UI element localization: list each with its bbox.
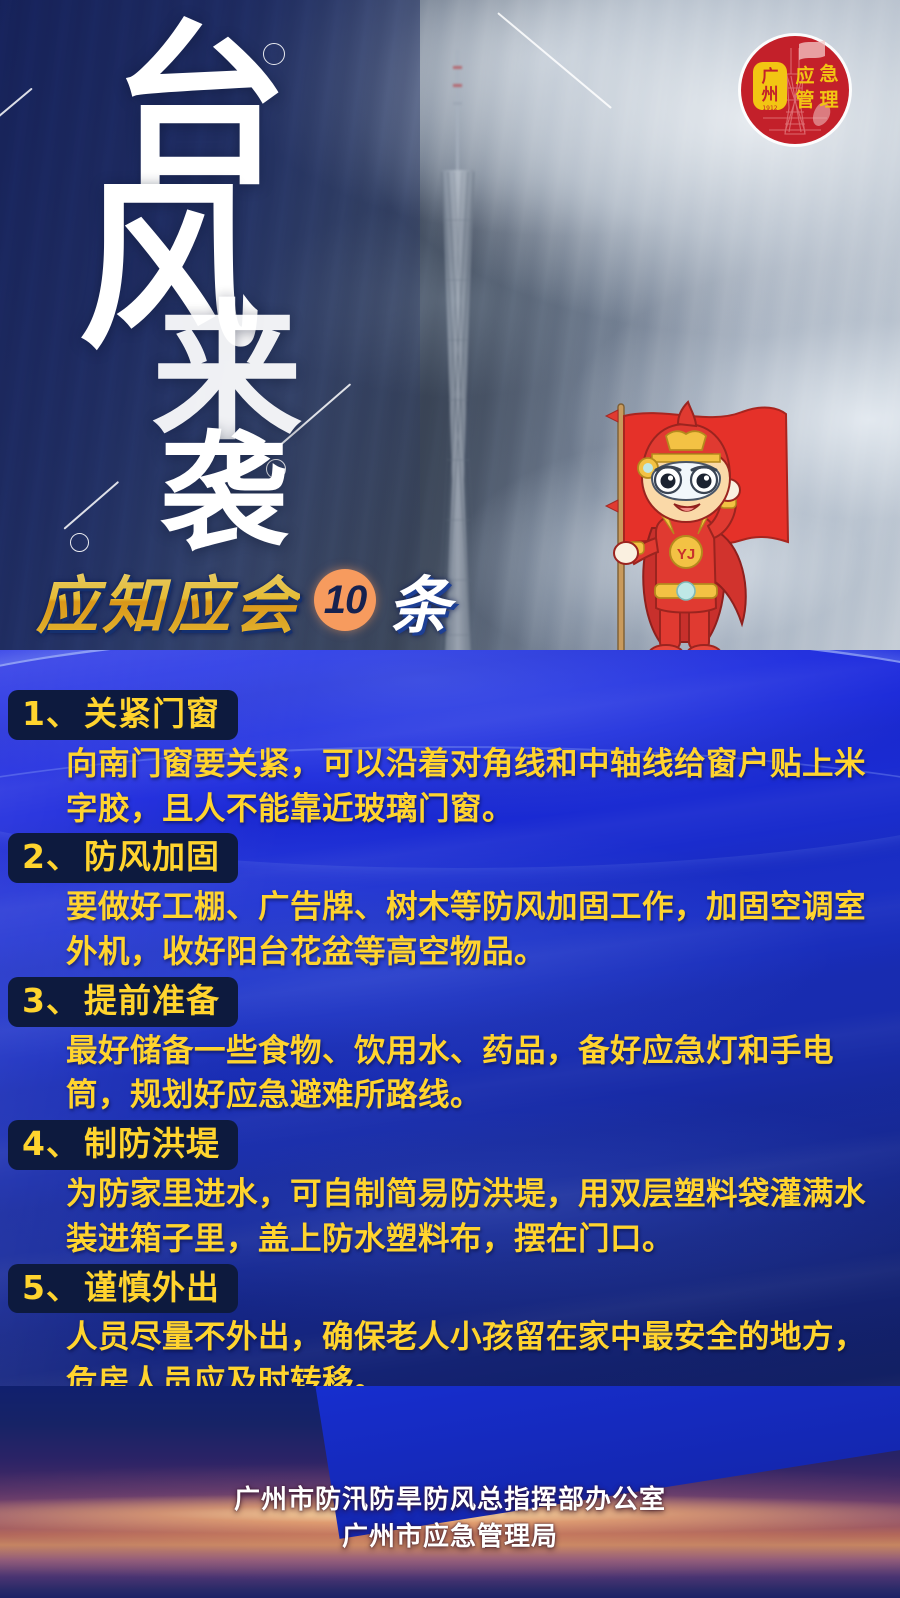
logo-char-guang: 广 [762,66,779,87]
logo-char-ji: 急 [819,62,838,85]
list-item: 4、 制防洪堤 为防家里进水，可自制简易防洪堤，用双层塑料袋灌满水装进箱子里，盖… [0,1120,900,1261]
list-item-body: 为防家里进水，可自制简易防洪堤，用双层塑料袋灌满水装进箱子里，盖上防水塑料布，摆… [66,1172,866,1261]
poster-footer: 广州市防汛防旱防风总指挥部办公室 广州市应急管理局 [0,1386,900,1598]
list-item-index: 5、 [22,1269,80,1307]
logo-char-ying: 应 [795,64,814,87]
list-item-body: 要做好工棚、广告牌、树木等防风加固工作，加固空调室外机，收好阳台花盆等高空物品。 [66,885,866,974]
logo-char-zhou: 州 [761,85,779,105]
list-item-body: 最好储备一些食物、饮用水、药品，备好应急灯和手电筒，规划好应急避难所路线。 [66,1029,866,1118]
poster-subtitle: 应知应会 10 条 [36,556,450,644]
list-item-index: 4、 [22,1125,80,1163]
logo-year: 1912 [762,105,777,112]
logo-char-guan: 管 [795,88,814,111]
list-item: 5、 谨慎外出 人员尽量不外出，确保老人小孩留在家中最安全的地方，危房人员应及时… [0,1264,900,1405]
mascot-chest-mark: YJ [677,546,695,563]
list-item-title: 提前准备 [84,982,220,1020]
subtitle-number-badge: 10 [314,569,376,631]
list-item-index: 2、 [22,838,80,876]
subtitle-gold-text: 应知应会 [36,555,300,645]
list-item-title: 防风加固 [84,838,220,876]
poster-title: 台 风 来 袭 [0,0,520,580]
list-item-heading: 2、 防风加固 [8,833,238,883]
list-item-title: 制防洪堤 [84,1125,220,1163]
list-item-index: 3、 [22,982,80,1020]
guangzhou-emergency-management-logo: 广 州 1912 应 急 管 理 [735,30,855,150]
list-item-heading: 3、 提前准备 [8,977,238,1027]
list-item: 1、 关紧门窗 向南门窗要关紧，可以沿着对角线和中轴线给窗户贴上米字胶，且人不能… [0,690,900,831]
subtitle-white-text: 条 [388,555,450,645]
list-item-heading: 1、 关紧门窗 [8,690,238,740]
list-item-heading: 5、 谨慎外出 [8,1264,238,1314]
footer-credit: 广州市防汛防旱防风总指挥部办公室 广州市应急管理局 [0,1482,900,1556]
list-item-title: 谨慎外出 [84,1269,220,1307]
list-item-heading: 4、 制防洪堤 [8,1120,238,1170]
footer-line-2: 广州市应急管理局 [0,1519,900,1556]
footer-line-1: 广州市防汛防旱防风总指挥部办公室 [0,1482,900,1519]
subtitle-number: 10 [324,578,367,623]
list-item-title: 关紧门窗 [84,695,220,733]
list-item-index: 1、 [22,695,80,733]
logo-char-li: 理 [819,89,838,111]
tips-list: 1、 关紧门窗 向南门窗要关紧，可以沿着对角线和中轴线给窗户贴上米字胶，且人不能… [0,690,900,1407]
emergency-hero-mascot: YJ [556,392,806,672]
list-item: 2、 防风加固 要做好工棚、广告牌、树木等防风加固工作，加固空调室外机，收好阳台… [0,833,900,974]
list-item-body: 向南门窗要关紧，可以沿着对角线和中轴线给窗户贴上米字胶，且人不能靠近玻璃门窗。 [66,742,866,831]
hero-sky-background: 台 风 来 袭 应知应会 10 条 [0,0,900,672]
title-char-4: 袭 [160,430,288,558]
typhoon-safety-poster: 台 风 来 袭 应知应会 10 条 [0,0,900,1598]
list-item: 3、 提前准备 最好储备一些食物、饮用水、药品，备好应急灯和手电筒，规划好应急避… [0,977,900,1118]
